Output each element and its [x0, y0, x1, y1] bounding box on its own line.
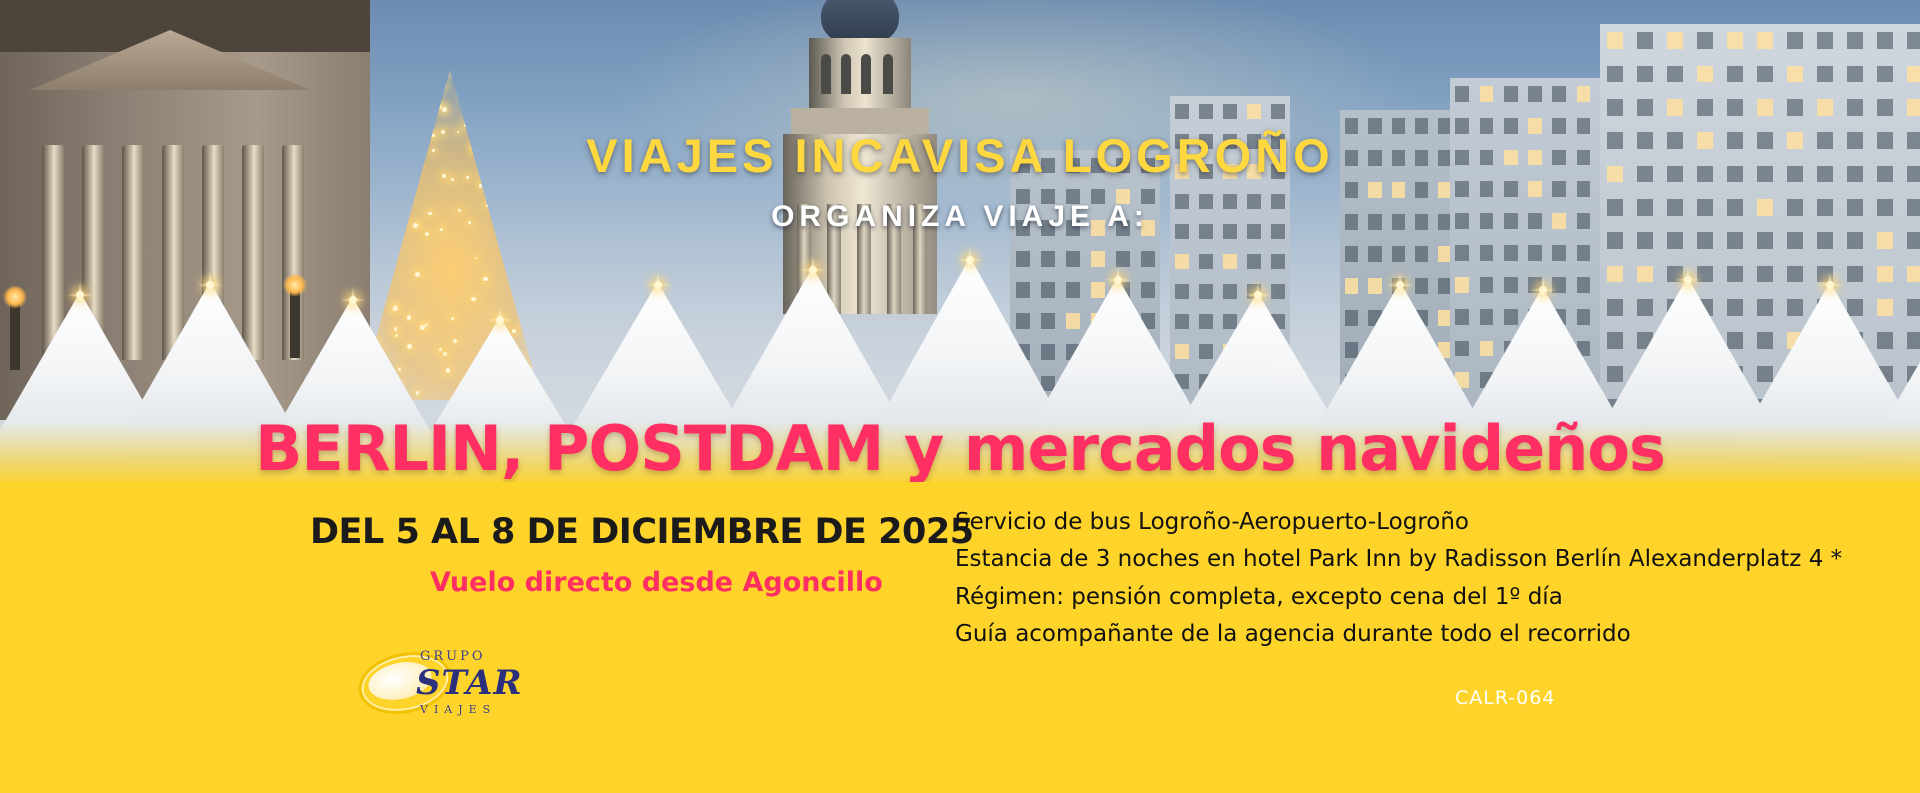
tent-star-light-icon — [800, 257, 826, 283]
tree-light-icon — [462, 91, 464, 93]
tree-light-icon — [445, 71, 449, 75]
tree-light-icon — [436, 85, 438, 87]
logo-top-word: GRUPO — [420, 649, 486, 664]
tent-star-light-icon — [1105, 267, 1131, 293]
travel-poster: VIAJES INCAVISA LOGROÑO ORGANIZA VIAJE A… — [0, 0, 1920, 793]
trip-dates: DEL 5 AL 8 DE DICIEMBRE DE 2025 — [310, 512, 974, 552]
tent-star-light-icon — [1245, 282, 1271, 308]
tent-star-light-icon — [1530, 277, 1556, 303]
grupo-star-viajes-logo: GRUPO STAR VIAJES — [358, 637, 518, 727]
destination-title: BERLIN, POSTDAM y mercados navideños — [0, 412, 1920, 482]
logo-bottom-word: VIAJES — [420, 703, 496, 716]
info-panel: DEL 5 AL 8 DE DICIEMBRE DE 2025 Vuelo di… — [0, 482, 1920, 793]
tent-star-light-icon — [487, 307, 513, 333]
reference-code: CALR-064 — [1455, 687, 1555, 709]
organiza-label: ORGANIZA VIAJE A: — [0, 200, 1920, 234]
tree-light-icon — [442, 107, 447, 112]
tent-star-light-icon — [67, 282, 93, 308]
tent-star-light-icon — [645, 272, 671, 298]
destination-main: BERLIN, POSTDAM — [255, 412, 883, 482]
includes-item: Régimen: pensión completa, excepto cena … — [955, 579, 1855, 616]
logo-main-word: STAR — [416, 663, 523, 703]
tent-star-light-icon — [1675, 267, 1701, 293]
tent-star-light-icon — [197, 272, 223, 298]
includes-item: Guía acompañante de la agencia durante t… — [955, 616, 1855, 653]
includes-list: Servicio de bus Logroño-Aeropuerto-Logro… — [955, 504, 1855, 653]
includes-item: Estancia de 3 noches en hotel Park Inn b… — [955, 541, 1855, 578]
tree-light-icon — [436, 91, 438, 93]
hero-photo-berlin-christmas-market: VIAJES INCAVISA LOGROÑO ORGANIZA VIAJE A… — [0, 0, 1920, 482]
tent-star-light-icon — [340, 287, 366, 313]
tent-star-light-icon — [957, 247, 983, 273]
tree-light-icon — [464, 124, 467, 127]
destination-tail: y mercados navideños — [883, 412, 1665, 482]
tree-light-icon — [479, 184, 482, 187]
tent-star-light-icon — [1387, 272, 1413, 298]
tree-light-icon — [432, 101, 434, 103]
agency-name: VIAJES INCAVISA LOGROÑO — [0, 128, 1920, 183]
flight-note: Vuelo directo desde Agoncillo — [430, 567, 883, 598]
includes-item: Servicio de bus Logroño-Aeropuerto-Logro… — [955, 504, 1855, 541]
tent-star-light-icon — [1817, 272, 1843, 298]
tree-light-icon — [444, 85, 446, 87]
